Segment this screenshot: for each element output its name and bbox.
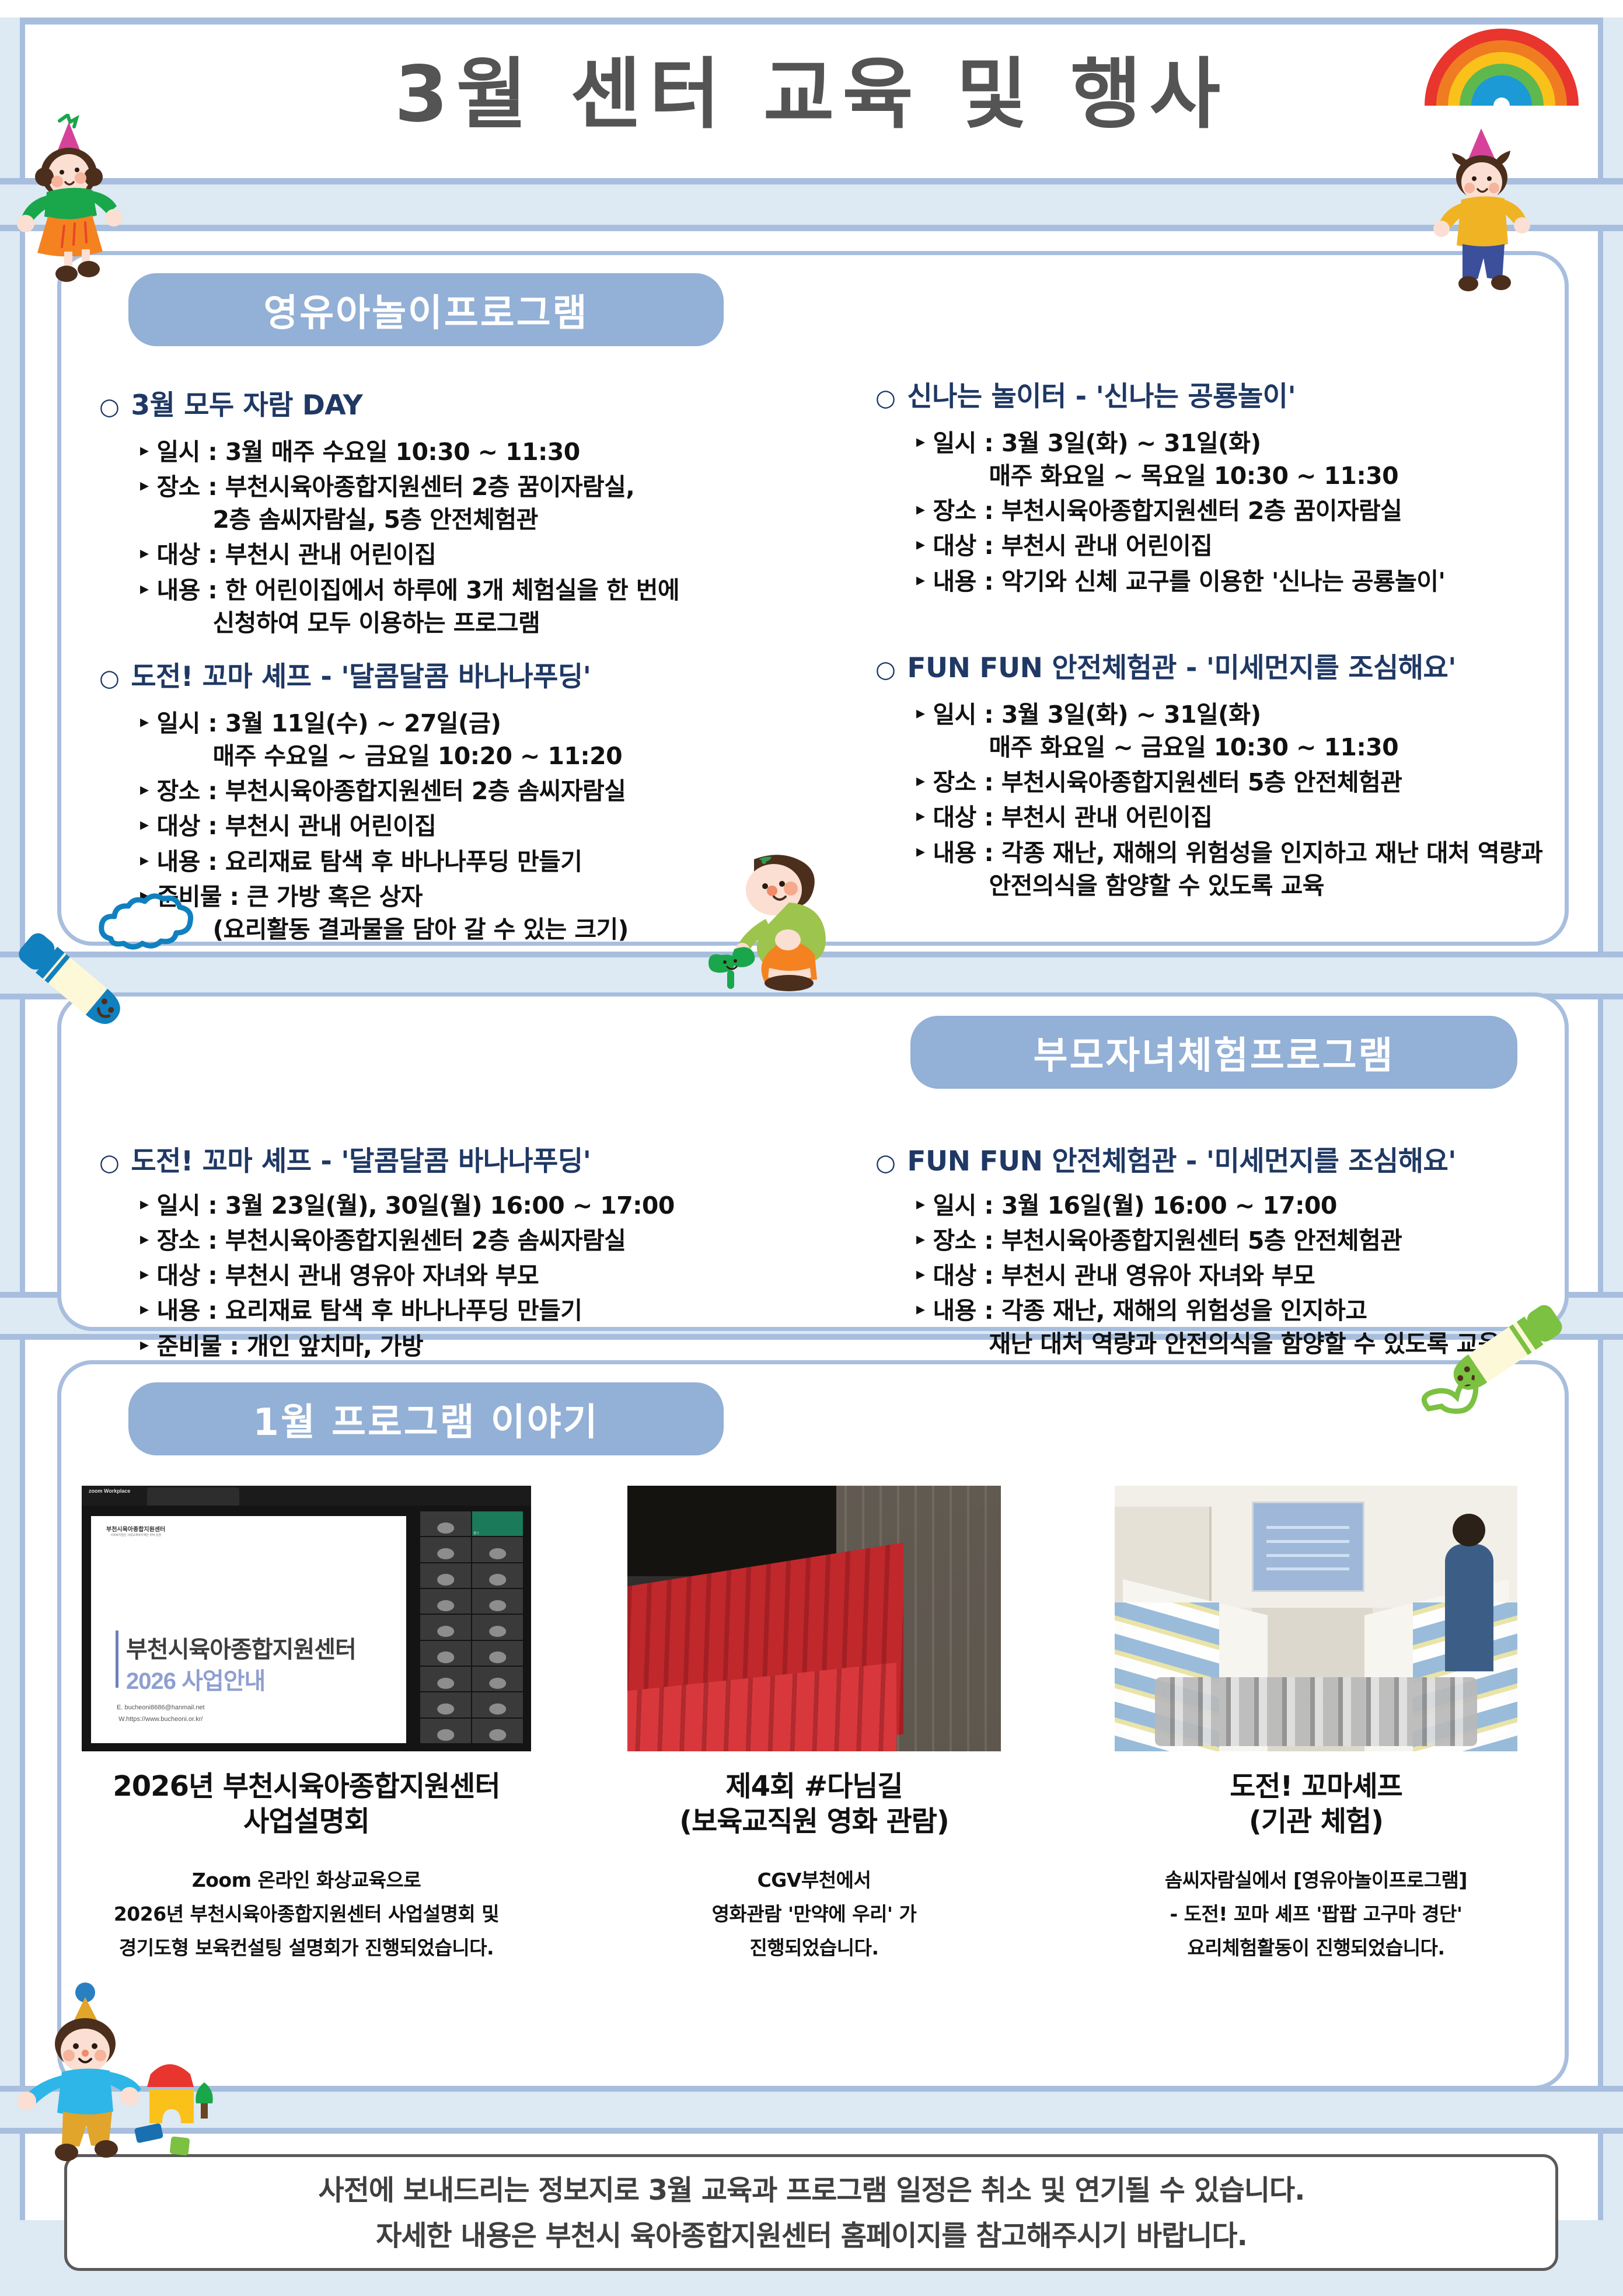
triangle-bullet-icon: ▸ xyxy=(916,801,924,832)
triangle-bullet-icon: ▸ xyxy=(140,1330,148,1361)
triangle-bullet-icon: ▸ xyxy=(140,574,148,605)
girl-sitting-with-leaf-illustration xyxy=(689,846,852,998)
participant-tile xyxy=(472,1563,523,1588)
participant-tile xyxy=(472,1537,523,1562)
program-bullets: ▸일시 : 3월 23일(월), 30일(월) 16:00 ~ 17:00 ▸장… xyxy=(99,1189,852,1363)
rainbow-icon xyxy=(1414,4,1589,106)
left-margin-band xyxy=(0,18,20,2296)
participant-tile xyxy=(472,1641,523,1666)
triangle-bullet-icon: ▸ xyxy=(916,1189,924,1220)
triangle-bullet-icon: ▸ xyxy=(916,1294,924,1325)
story-photo-cinema xyxy=(627,1486,1001,1751)
participant-tile xyxy=(420,1589,471,1614)
triangle-bullet-icon: ▸ xyxy=(140,775,148,806)
story-caption: 제4회 #다님길 (보육교직원 영화 관람) xyxy=(589,1769,1039,1839)
band-under-title-rule-top xyxy=(0,178,1623,184)
triangle-bullet-icon: ▸ xyxy=(916,1224,924,1255)
triangle-bullet-icon: ▸ xyxy=(916,494,924,525)
program-title: ○ 신나는 놀이터 - '신나는 공룡놀이' xyxy=(875,374,1623,414)
participant-tile xyxy=(420,1537,471,1562)
slide-contact: E. bucheoni8686@hanmail.net W.https://ww… xyxy=(117,1702,205,1726)
cloud-doodle-icon xyxy=(88,893,216,963)
story-photo-cooking-room xyxy=(1115,1486,1517,1751)
story-description: 솜씨자람실에서 [영유아놀이프로그램] - 도전! 꼬마 셰프 '팝팝 고구마 … xyxy=(1091,1863,1541,1964)
program-bullet: ▸일시 : 3월 23일(월), 30일(월) 16:00 ~ 17:00 xyxy=(140,1189,852,1222)
triangle-bullet-icon: ▸ xyxy=(140,538,148,569)
program-bullet: ▸일시 : 3월 11일(수) ~ 27일(금)매주 수요일 ~ 금요일 10:… xyxy=(140,707,852,772)
participant-tile xyxy=(472,1692,523,1717)
program-block: ○ 신나는 놀이터 - '신나는 공룡놀이' ▸일시 : 3월 3일(화) ~ … xyxy=(875,374,1623,600)
program-bullet: ▸장소 : 부천시육아종합지원센터 5층 안전체험관 xyxy=(916,1224,1623,1257)
story-description: CGV부천에서 영화관람 '만약에 우리' 가 진행되었습니다. xyxy=(589,1863,1039,1964)
program-bullet: ▸대상 : 부천시 관내 어린이집 xyxy=(140,810,852,842)
section-heading-parent-child: 부모자녀체험프로그램 xyxy=(910,1016,1517,1089)
bullet-circle-icon: ○ xyxy=(99,1149,119,1176)
participant-tile xyxy=(420,1667,471,1691)
participant-tile xyxy=(420,1641,471,1666)
participant-tile-badge: 경기 xyxy=(472,1511,523,1536)
bullet-circle-icon: ○ xyxy=(875,656,895,683)
boy-yellow-shirt-illustration xyxy=(1412,117,1564,298)
triangle-bullet-icon: ▸ xyxy=(140,1259,148,1290)
program-bullets: ▸일시 : 3월 매주 수요일 10:30 ~ 11:30 ▸장소 : 부천시육… xyxy=(99,435,852,639)
triangle-bullet-icon: ▸ xyxy=(140,435,148,466)
story-item: 제4회 #다님길 (보육교직원 영화 관람) CGV부천에서 영화관람 '만약에… xyxy=(589,1486,1039,1964)
participant-tile xyxy=(420,1511,471,1536)
slide-title: 부천시육아종합지원센터 xyxy=(126,1630,356,1664)
program-title: ○ 도전! 꼬마 셰프 - '달콤달콤 바나나푸딩' xyxy=(99,1138,852,1179)
band-under-title-rule-bottom xyxy=(0,225,1623,231)
program-bullet: ▸장소 : 부천시육아종합지원센터 2층 솜씨자람실 xyxy=(140,1224,852,1257)
triangle-bullet-icon: ▸ xyxy=(916,698,924,729)
bullet-circle-icon: ○ xyxy=(99,393,119,420)
section-heading-story: 1월 프로그램 이야기 xyxy=(128,1382,724,1455)
story-description: Zoom 온라인 화상교육으로 2026년 부천시육아종합지원센터 사업설명회 … xyxy=(82,1863,531,1964)
shared-slide: 부천시육아종합지원센터 사회복지법인 사랑교체복지재단 위탁 운영 부천시육아종… xyxy=(91,1516,406,1743)
program-bullet: ▸일시 : 3월 16일(월) 16:00 ~ 17:00 xyxy=(916,1189,1623,1222)
program-block: ○ 3월 모두 자람 DAY ▸일시 : 3월 매주 수요일 10:30 ~ 1… xyxy=(99,382,852,642)
slide-logo: 부천시육아종합지원센터 사회복지법인 사랑교체복지재단 위탁 운영 xyxy=(106,1524,165,1537)
program-bullet: ▸장소 : 부천시육아종합지원센터 2층 솜씨자람실 xyxy=(140,775,852,807)
story-photo-zoom-meeting: zoom Workplace 부천시육아종합지원센터 사회복지법인 사랑교체복지… xyxy=(82,1486,531,1751)
program-title-text: 3월 모두 자람 DAY xyxy=(131,382,362,423)
program-bullet: ▸일시 : 3월 3일(화) ~ 31일(화)매주 화요일 ~ 금요일 10:3… xyxy=(916,698,1623,764)
slide-subtitle: 2026 사업안내 xyxy=(126,1662,265,1696)
program-title: ○ 도전! 꼬마 셰프 - '달콤달콤 바나나푸딩' xyxy=(99,654,852,694)
triangle-bullet-icon: ▸ xyxy=(140,707,148,738)
program-bullet: ▸내용 : 악기와 신체 교구를 이용한 '신나는 공룡놀이' xyxy=(916,565,1623,598)
program-bullet: ▸일시 : 3월 3일(화) ~ 31일(화)매주 화요일 ~ 목요일 10:3… xyxy=(916,427,1623,492)
story-item: zoom Workplace 부천시육아종합지원센터 사회복지법인 사랑교체복지… xyxy=(82,1486,531,1964)
program-bullet: ▸장소 : 부천시육아종합지원센터 2층 꿈이자람실 xyxy=(916,494,1623,527)
participant-tile xyxy=(472,1589,523,1614)
participant-tiles: 경기 xyxy=(420,1511,523,1743)
program-title-text: 신나는 놀이터 - '신나는 공룡놀이' xyxy=(907,374,1296,414)
story-caption: 도전! 꼬마셰프 (기관 체험) xyxy=(1091,1769,1541,1839)
triangle-bullet-icon: ▸ xyxy=(916,837,924,867)
program-bullet: ▸장소 : 부천시육아종합지원센터 5층 안전체험관 xyxy=(916,766,1623,799)
notice-text: 사전에 보내드리는 정보지로 3월 교육과 프로그램 일정은 취소 및 연기될 … xyxy=(0,2168,1623,2259)
program-bullet: ▸일시 : 3월 매주 수요일 10:30 ~ 11:30 xyxy=(140,435,852,468)
triangle-bullet-icon: ▸ xyxy=(140,471,148,501)
program-bullet: ▸대상 : 부천시 관내 영유아 자녀와 부모 xyxy=(140,1259,852,1292)
program-bullet: ▸내용 : 요리재료 탐색 후 바나나푸딩 만들기 xyxy=(140,1294,852,1327)
program-title-text: FUN FUN 안전체험관 - '미세먼지를 조심해요' xyxy=(907,1138,1456,1179)
triangle-bullet-icon: ▸ xyxy=(916,529,924,560)
program-title-text: FUN FUN 안전체험관 - '미세먼지를 조심해요' xyxy=(907,645,1456,685)
triangle-bullet-icon: ▸ xyxy=(140,1189,148,1220)
program-bullet: ▸내용 : 각종 재난, 재해의 위험성을 인지하고 재난 대처 역량과안전의식… xyxy=(916,837,1623,902)
participant-tile xyxy=(472,1667,523,1691)
program-title-text: 도전! 꼬마 셰프 - '달콤달콤 바나나푸딩' xyxy=(131,1138,591,1179)
zoom-tab xyxy=(147,1487,239,1506)
triangle-bullet-icon: ▸ xyxy=(140,1224,148,1255)
participant-tile xyxy=(420,1615,471,1639)
triangle-bullet-icon: ▸ xyxy=(916,766,924,797)
program-bullets: ▸일시 : 3월 3일(화) ~ 31일(화)매주 화요일 ~ 금요일 10:3… xyxy=(875,698,1623,902)
program-title: ○ 3월 모두 자람 DAY xyxy=(99,382,852,423)
participant-tile xyxy=(420,1692,471,1717)
participant-tile xyxy=(472,1719,523,1743)
story-caption: 2026년 부천시육아종합지원센터 사업설명회 xyxy=(82,1769,531,1839)
triangle-bullet-icon: ▸ xyxy=(916,427,924,458)
band-under-title xyxy=(0,181,1623,228)
page-title: 3월 센터 교육 및 행사 xyxy=(0,32,1623,144)
program-title: ○ FUN FUN 안전체험관 - '미세먼지를 조심해요' xyxy=(875,645,1623,685)
participant-tile xyxy=(472,1615,523,1639)
program-block: ○ 도전! 꼬마 셰프 - '달콤달콤 바나나푸딩' ▸일시 : 3월 23일(… xyxy=(99,1138,852,1365)
program-bullet: ▸내용 : 한 어린이집에서 하루에 3개 체험실을 한 번에신청하여 모두 이… xyxy=(140,574,852,639)
section-heading-infant-play: 영유아놀이프로그램 xyxy=(128,273,724,346)
program-bullet: ▸대상 : 부천시 관내 어린이집 xyxy=(916,801,1623,834)
crayon-green-character-icon xyxy=(1418,1281,1587,1427)
left-margin-rule xyxy=(20,18,25,2296)
story-item: 도전! 꼬마셰프 (기관 체험) 솜씨자람실에서 [영유아놀이프로그램] - 도… xyxy=(1091,1486,1541,1964)
zoom-app-label: zoom Workplace xyxy=(89,1489,130,1494)
bullet-circle-icon: ○ xyxy=(99,665,119,692)
participant-tile xyxy=(420,1563,471,1588)
bullet-circle-icon: ○ xyxy=(875,385,895,412)
boy-with-blocks-illustration xyxy=(12,1982,263,2175)
triangle-bullet-icon: ▸ xyxy=(140,810,148,841)
program-title-text: 도전! 꼬마 셰프 - '달콤달콤 바나나푸딩' xyxy=(131,654,591,694)
program-bullet: ▸대상 : 부천시 관내 어린이집 xyxy=(916,529,1623,562)
program-bullets: ▸일시 : 3월 3일(화) ~ 31일(화)매주 화요일 ~ 목요일 10:3… xyxy=(875,427,1623,598)
triangle-bullet-icon: ▸ xyxy=(140,1294,148,1325)
girl-green-shirt-illustration xyxy=(6,114,163,289)
program-bullet: ▸준비물 : 개인 앞치마, 가방 xyxy=(140,1330,852,1363)
program-block: ○ FUN FUN 안전체험관 - '미세먼지를 조심해요' ▸일시 : 3월 … xyxy=(875,645,1623,904)
bullet-circle-icon: ○ xyxy=(875,1149,895,1176)
triangle-bullet-icon: ▸ xyxy=(140,845,148,876)
top-rule xyxy=(0,18,1623,25)
participant-tile xyxy=(420,1719,471,1743)
program-bullet: ▸대상 : 부천시 관내 어린이집 xyxy=(140,538,852,571)
program-bullet: ▸장소 : 부천시육아종합지원센터 2층 꿈이자람실,2층 솜씨자람실, 5층 … xyxy=(140,471,852,536)
triangle-bullet-icon: ▸ xyxy=(916,565,924,596)
triangle-bullet-icon: ▸ xyxy=(916,1259,924,1290)
program-title: ○ FUN FUN 안전체험관 - '미세먼지를 조심해요' xyxy=(875,1138,1623,1179)
